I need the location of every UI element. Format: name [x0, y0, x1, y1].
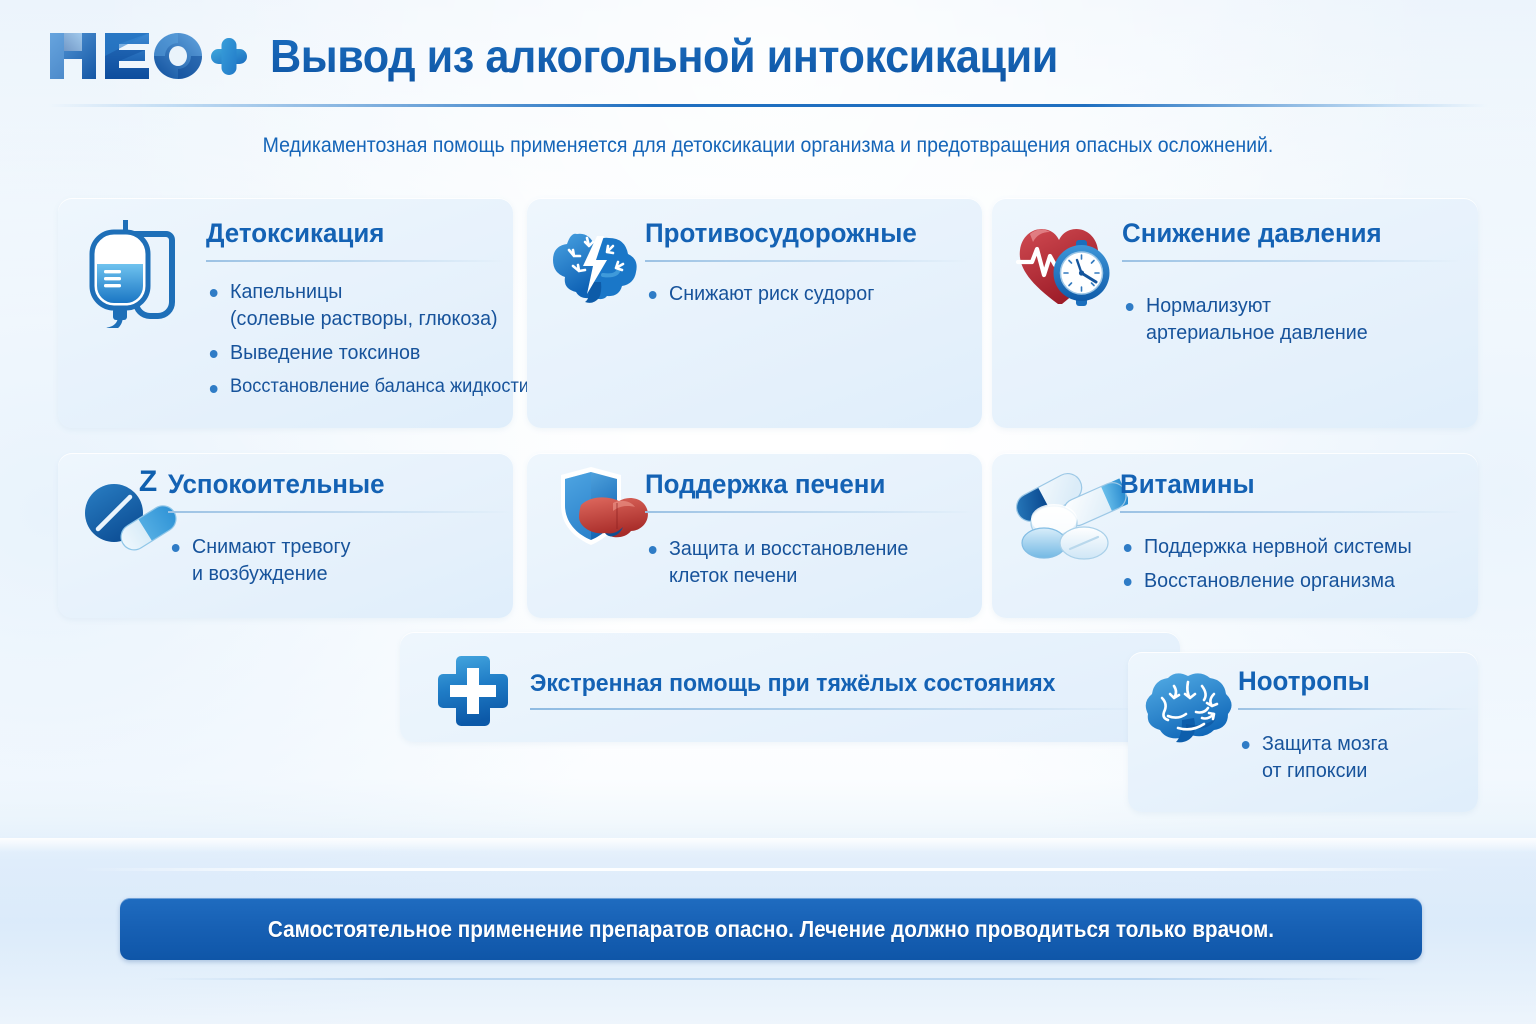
- list-item-sub: (солевые растворы, глюкоза): [206, 305, 529, 332]
- footer-band-top: [0, 838, 1536, 852]
- list-item-sub: и возбуждение: [168, 560, 350, 587]
- bullet-list: Снимают тревогу и возбуждение: [168, 533, 358, 588]
- svg-text:Z: Z: [139, 465, 157, 498]
- list-item: Защита и восстановление: [645, 535, 908, 562]
- footer-band-bottom: [150, 978, 1390, 980]
- bullet-list: Снижают риск судорог: [645, 280, 884, 307]
- list-item-sub: клеток печени: [645, 562, 908, 589]
- card-blood-pressure[interactable]: Снижение давления Нормализуют артериальн…: [992, 198, 1478, 428]
- list-item: Выведение токсинов: [206, 339, 529, 366]
- liver-shield-icon: [547, 463, 655, 555]
- title-divider: [168, 511, 513, 513]
- card-title-wrap: Поддержка печени: [645, 471, 895, 498]
- warning-banner: Самостоятельное применение препаратов оп…: [120, 898, 1422, 960]
- list-item-sub: от гипоксии: [1238, 757, 1388, 784]
- card-title: Противосудорожные: [645, 220, 917, 247]
- header: Вывод из алкогольной интоксикации: [0, 0, 1536, 112]
- card-title: Ноотропы: [1238, 668, 1370, 695]
- card-title-wrap: Противосудорожные: [645, 220, 928, 247]
- neo-plus-logo: [48, 27, 248, 85]
- card-title: Поддержка печени: [645, 471, 885, 498]
- card-title-wrap: Успокоительные: [168, 471, 394, 498]
- page-subtitle: Медикаментозная помощь применяется для д…: [54, 134, 1482, 158]
- list-item: Нормализуют: [1122, 292, 1368, 319]
- list-item: Восстановление организма: [1120, 567, 1412, 594]
- emergency-help-banner[interactable]: Экстренная помощь при тяжёлых состояниях: [400, 632, 1180, 742]
- card-title-wrap: Витамины: [1120, 471, 1260, 498]
- list-item: Защита мозга: [1238, 730, 1388, 757]
- title-divider: [1238, 708, 1473, 710]
- card-title: Снижение давления: [1122, 220, 1382, 247]
- bullet-list: Капельницы (солевые растворы, глюкоза) В…: [206, 278, 542, 399]
- title-divider: [206, 260, 506, 262]
- infographic-poster: Вывод из алкогольной интоксикации Медика…: [0, 0, 1536, 1024]
- logo-icon: [48, 27, 248, 85]
- list-item-sub: артериальное давление: [1122, 319, 1368, 346]
- list-item: Восстановление баланса жидкости: [206, 374, 529, 399]
- medical-cross-icon: [434, 652, 512, 730]
- emergency-help-text: Экстренная помощь при тяжёлых состояниях: [530, 670, 1055, 698]
- title-divider: [645, 260, 970, 262]
- card-title-wrap: Детоксикация: [206, 220, 392, 247]
- list-item: Снижают риск судорог: [645, 280, 874, 307]
- card-anticonvulsants[interactable]: Противосудорожные Снижают риск судорог: [527, 198, 982, 428]
- title-divider: [645, 511, 975, 513]
- bullet-list: Поддержка нервной системы Восстановление…: [1120, 533, 1424, 595]
- card-nootropics[interactable]: Ноотропы Защита мозга от гипоксии: [1128, 652, 1478, 812]
- brain-lightning-icon: [547, 220, 643, 306]
- list-item: Снимают тревогу: [168, 533, 350, 560]
- heart-pressure-icon: [1014, 216, 1120, 316]
- card-vitamins[interactable]: Витамины Поддержка нервной системы Восст…: [992, 453, 1478, 618]
- card-title-wrap: Снижение давления: [1122, 220, 1393, 247]
- warning-text: Самостоятельное применение препаратов оп…: [268, 916, 1274, 943]
- card-sedatives[interactable]: Z Успокоительные Снимают тревогу и возбу…: [58, 453, 513, 618]
- card-liver-support[interactable]: Поддержка печени Защита и восстановление…: [527, 453, 982, 618]
- bullet-list: Защита мозга от гипоксии: [1238, 730, 1394, 785]
- title-divider: [1120, 511, 1465, 513]
- iv-drip-icon: [80, 216, 186, 328]
- page-title: Вывод из алкогольной интоксикации: [270, 29, 1058, 83]
- footer-band-highlight: [80, 868, 1456, 871]
- card-title: Витамины: [1120, 471, 1255, 498]
- bullet-list: Нормализуют артериальное давление: [1122, 292, 1378, 347]
- card-title: Успокоительные: [168, 471, 385, 498]
- header-divider: [48, 104, 1488, 107]
- card-title: Детоксикация: [206, 220, 384, 247]
- bullet-list: Защита и восстановление клеток печени: [645, 535, 919, 590]
- card-detoxication[interactable]: Детоксикация Капельницы (солевые раствор…: [58, 198, 513, 428]
- pills-capsules-icon: [1006, 465, 1128, 561]
- card-title-wrap: Ноотропы: [1238, 668, 1375, 695]
- emergency-divider: [530, 708, 1152, 710]
- list-item: Капельницы: [206, 278, 529, 305]
- title-divider: [1122, 260, 1462, 262]
- list-item: Поддержка нервной системы: [1120, 533, 1412, 560]
- brain-icon: [1144, 664, 1236, 750]
